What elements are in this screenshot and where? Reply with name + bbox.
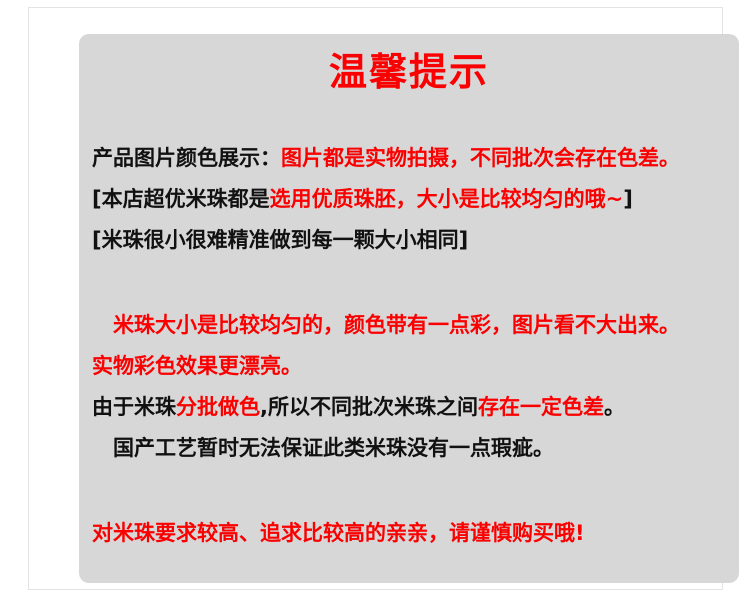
line-quality-bead-blank-segment-2: ]: [623, 187, 633, 211]
page-title: 温馨提示: [79, 48, 739, 96]
notice-body: 产品图片颜色展示：图片都是实物拍摄，不同批次会存在色差。[本店超优米珠都是选用优…: [92, 138, 732, 554]
line-bead-size-hard-segment-0: [米珠很小很难精准做到每一颗大小相同]: [92, 228, 468, 252]
line-batch-color-difference-segment-1: 分批做色: [176, 395, 260, 419]
notice-panel: 温馨提示 产品图片颜色展示：图片都是实物拍摄，不同批次会存在色差。[本店超优米珠…: [79, 34, 739, 583]
line-product-color-display-segment-1: 图片都是实物拍摄，不同批次会存在色差。: [281, 146, 680, 170]
line-real-object-prettier-segment-0: 实物彩色效果更漂亮。: [92, 354, 302, 378]
line-product-color-display-segment-0: 产品图片颜色展示：: [92, 146, 281, 170]
line-bead-size-hard: [米珠很小很难精准做到每一颗大小相同]: [92, 220, 732, 261]
line-real-object-prettier: 实物彩色效果更漂亮。: [92, 346, 732, 387]
outer-frame: 温馨提示 产品图片颜色展示：图片都是实物拍摄，不同批次会存在色差。[本店超优米珠…: [28, 7, 723, 590]
line-batch-color-difference-segment-4: 。: [604, 395, 625, 419]
line-high-requirement-warning-segment-0: 对米珠要求较高、追求比较高的亲亲，请谨慎购买哦!: [92, 521, 585, 545]
line-size-uniform-color-segment-0: 米珠大小是比较均匀的，颜色带有一点彩，图片看不大出来。: [113, 313, 680, 337]
notice-page: 温馨提示 产品图片颜色展示：图片都是实物拍摄，不同批次会存在色差。[本店超优米珠…: [0, 0, 750, 600]
line-quality-bead-blank-segment-0: [本店超优米珠都是: [92, 187, 270, 211]
line-quality-bead-blank-segment-1: 选用优质珠胚，大小是比较均匀的哦~: [270, 187, 624, 211]
line-batch-color-difference-segment-3: 存在一定色差: [478, 395, 604, 419]
line-high-requirement-warning: 对米珠要求较高、追求比较高的亲亲，请谨慎购买哦!: [92, 513, 732, 554]
line-domestic-craft-flaw: 国产工艺暂时无法保证此类米珠没有一点瑕疵。: [92, 428, 732, 469]
line-batch-color-difference: 由于米珠分批做色,所以不同批次米珠之间存在一定色差。: [92, 387, 732, 428]
line-batch-color-difference-segment-0: 由于米珠: [92, 395, 176, 419]
line-domestic-craft-flaw-segment-0: 国产工艺暂时无法保证此类米珠没有一点瑕疵。: [113, 436, 554, 460]
line-batch-color-difference-segment-2: ,所以不同批次米珠之间: [260, 395, 478, 419]
line-size-uniform-color: 米珠大小是比较均匀的，颜色带有一点彩，图片看不大出来。: [92, 305, 732, 346]
line-product-color-display: 产品图片颜色展示：图片都是实物拍摄，不同批次会存在色差。: [92, 138, 732, 179]
line-quality-bead-blank: [本店超优米珠都是选用优质珠胚，大小是比较均匀的哦~]: [92, 179, 732, 220]
